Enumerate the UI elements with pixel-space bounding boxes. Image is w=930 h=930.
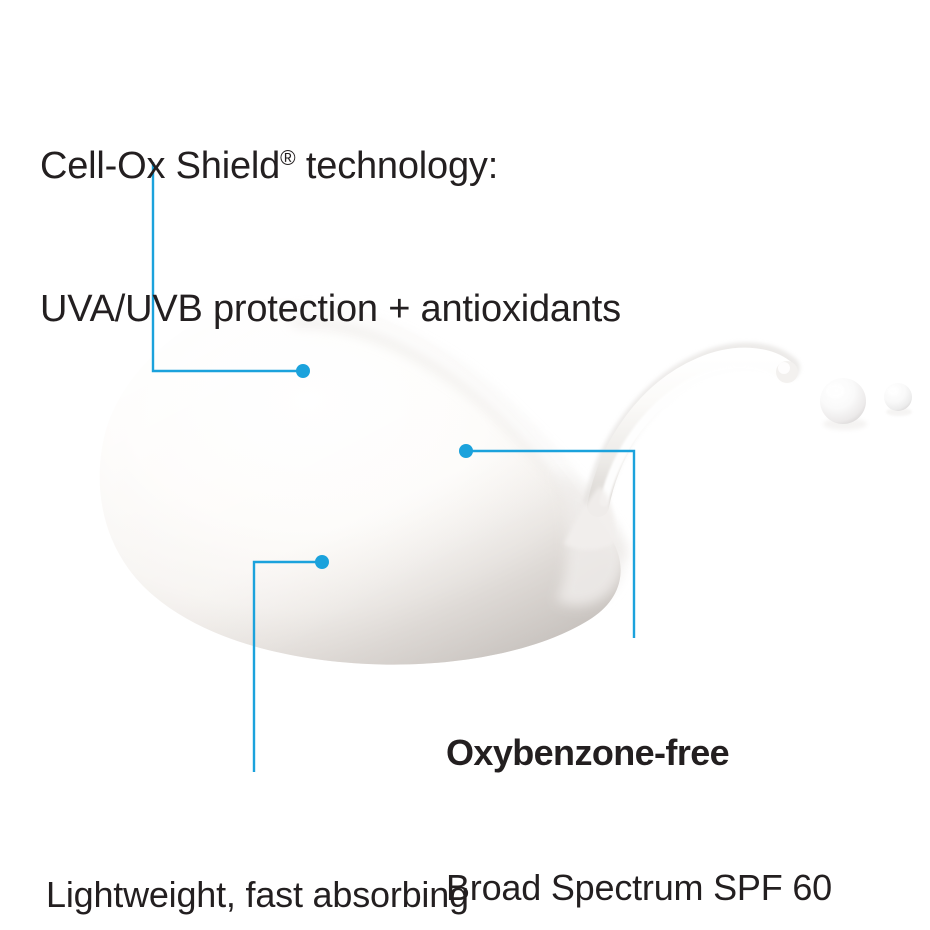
callout-technology-line2: UVA/UVB protection + antioxidants [40, 286, 621, 334]
registered-trademark-icon: ® [280, 147, 295, 170]
callout-spf-line2: Broad Spectrum SPF 60 [446, 865, 832, 910]
leader-dot-texture [315, 555, 329, 569]
callout-technology-brand: Cell-Ox Shield [40, 145, 280, 187]
callout-technology: Cell-Ox Shield® technology: UVA/UVB prot… [40, 48, 621, 428]
product-infographic: Cell-Ox Shield® technology: UVA/UVB prot… [0, 0, 930, 930]
callout-texture: Lightweight, fast absorbing matte fluid … [46, 782, 469, 930]
callout-technology-line1-tail: technology: [296, 145, 499, 187]
cream-droplet-small [884, 383, 912, 416]
callout-technology-line1: Cell-Ox Shield® technology: [40, 143, 621, 191]
callout-texture-line1: Lightweight, fast absorbing [46, 872, 469, 917]
leader-dot-spf [459, 444, 473, 458]
callout-spf-line1: Oxybenzone-free [446, 730, 832, 775]
cream-droplet-large [820, 378, 867, 430]
callout-spf: Oxybenzone-free Broad Spectrum SPF 60 [446, 640, 832, 930]
